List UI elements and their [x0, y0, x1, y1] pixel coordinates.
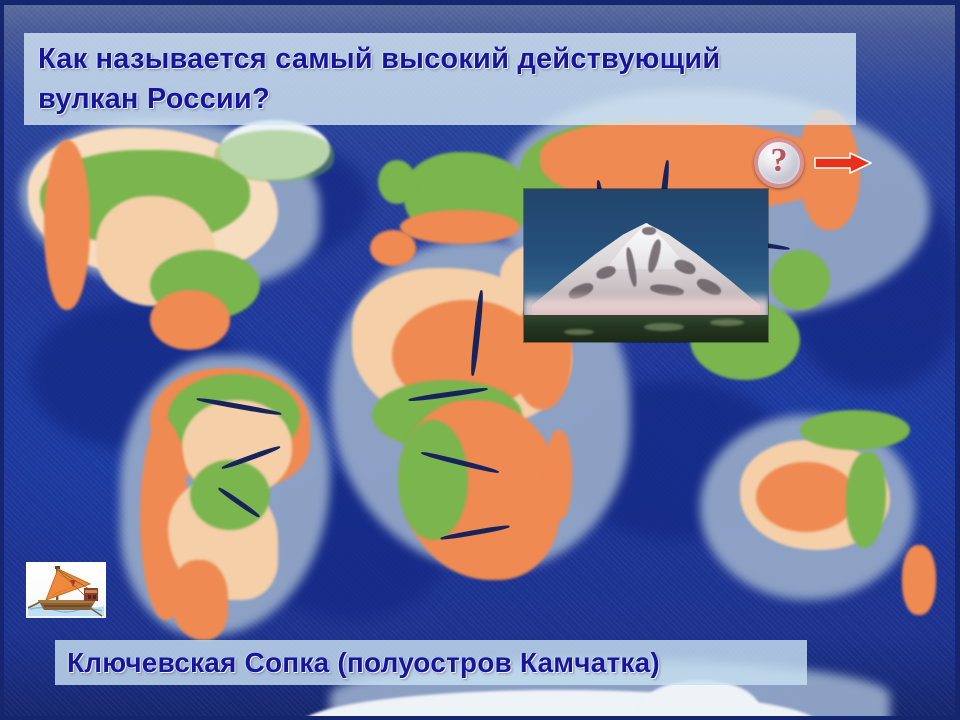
forest-highlight	[564, 329, 594, 335]
ship-icon	[26, 562, 106, 618]
question-banner: Как называется самый высокий действующий…	[24, 33, 856, 125]
arrow-right-icon	[814, 152, 872, 174]
quiz-slide: Как называется самый высокий действующий…	[0, 0, 960, 720]
next-arrow[interactable]	[814, 152, 872, 174]
central-america	[150, 290, 230, 350]
iberia	[370, 230, 416, 266]
question-mark-button[interactable]: ?	[754, 138, 804, 188]
rocky-mountains	[44, 140, 90, 310]
answer-banner: Ключевская Сопка (полуостров Камчатка)	[55, 640, 807, 685]
summit-crater-rock	[642, 227, 656, 235]
slide-frame-bottom	[0, 716, 960, 720]
answer-text: Ключевская Сопка (полуостров Камчатка)	[67, 646, 660, 680]
japan	[770, 250, 830, 310]
australia-outback	[756, 462, 856, 532]
sailing-ship-clipart	[26, 562, 106, 618]
congo-basin	[398, 420, 468, 540]
forest-highlight	[710, 319, 744, 326]
forest-highlight	[644, 323, 684, 331]
slide-frame-left	[0, 0, 4, 720]
madagascar	[546, 430, 572, 520]
new-zealand	[902, 545, 936, 615]
greenland-edge	[214, 130, 334, 182]
new-guinea	[800, 410, 910, 450]
volcano-photo	[524, 189, 768, 342]
slide-frame-right	[955, 0, 960, 720]
british-isles	[378, 160, 416, 204]
slide-frame-top	[0, 0, 960, 5]
question-mark-icon: ?	[771, 144, 788, 178]
alps	[400, 210, 520, 244]
question-text: Как называется самый высокий действующий…	[38, 39, 842, 119]
